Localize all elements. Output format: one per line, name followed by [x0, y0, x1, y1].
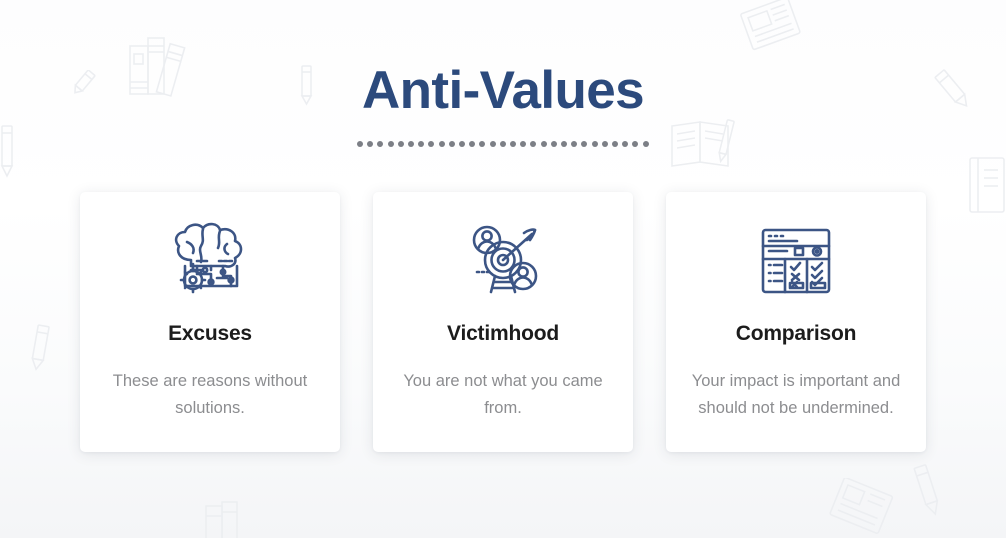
divider-dot [388, 141, 394, 147]
card-description: Your impact is important and should not … [689, 368, 904, 422]
card-title: Comparison [736, 322, 857, 346]
card-title: Excuses [168, 322, 252, 346]
divider-dot [551, 141, 557, 147]
divider-dot [632, 141, 638, 147]
divider-dot [357, 141, 363, 147]
divider-dot [571, 141, 577, 147]
divider-dot [418, 141, 424, 147]
divider-dot [622, 141, 628, 147]
divider-dot [428, 141, 434, 147]
divider-dot [520, 141, 526, 147]
card-description: You are not what you came from. [396, 368, 611, 422]
anti-value-card[interactable]: Comparison Your impact is important and … [666, 192, 926, 452]
divider-dot [398, 141, 404, 147]
anti-value-card[interactable]: Excuses These are reasons without soluti… [80, 192, 340, 452]
divider-dot [612, 141, 618, 147]
card-title: Victimhood [447, 322, 559, 346]
anti-values-section: Anti-Values [0, 0, 1006, 538]
divider-dot [602, 141, 608, 147]
cards-row: Excuses These are reasons without soluti… [80, 192, 926, 452]
divider-dot [408, 141, 414, 147]
divider-dot [510, 141, 516, 147]
divider-dot [500, 141, 506, 147]
divider-dot [530, 141, 536, 147]
divider-dot [449, 141, 455, 147]
divider-dot [581, 141, 587, 147]
dotted-divider [357, 141, 649, 147]
brain-circuit-icon [165, 218, 255, 304]
card-description: These are reasons without solutions. [103, 368, 318, 422]
divider-dot [541, 141, 547, 147]
divider-dot [459, 141, 465, 147]
divider-dot [439, 141, 445, 147]
divider-dot [490, 141, 496, 147]
divider-dot [469, 141, 475, 147]
divider-dot [479, 141, 485, 147]
comparison-table-icon [751, 218, 841, 304]
divider-dot [592, 141, 598, 147]
divider-dot [367, 141, 373, 147]
divider-dot [561, 141, 567, 147]
divider-dot [377, 141, 383, 147]
target-audience-icon [458, 218, 548, 304]
divider-dot [643, 141, 649, 147]
page-title: Anti-Values [362, 0, 644, 117]
anti-value-card[interactable]: Victimhood You are not what you came fro… [373, 192, 633, 452]
